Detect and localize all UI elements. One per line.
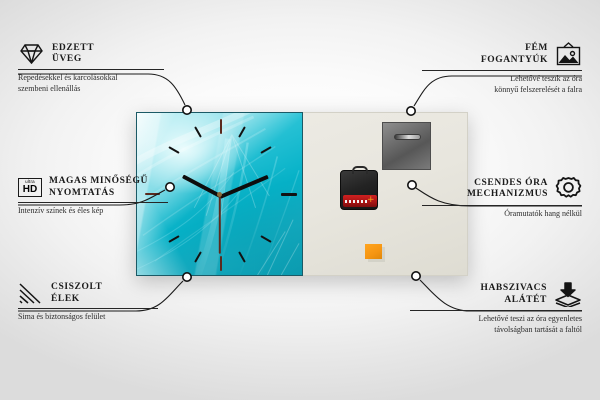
battery: +: [343, 195, 377, 207]
metal-hanger-plate: [382, 122, 431, 170]
callout-title: MAGAS MINŐSÉGŰ NYOMTATÁS: [49, 176, 148, 199]
diamond-icon: [18, 42, 45, 66]
clock-second-hand: [219, 196, 221, 254]
callout-divider: [410, 310, 582, 311]
callout-title: FÉM FOGANTYÚK: [481, 43, 548, 66]
callout-description: Lehetővé teszi az óra egyenletes távolsá…: [410, 314, 582, 335]
callout-metal-handles[interactable]: FÉM FOGANTYÚK Lehetővé teszik az óra kön…: [422, 42, 582, 95]
callout-hd-print[interactable]: ultra HD MAGAS MINŐSÉGŰ NYOMTATÁS Intenz…: [18, 176, 168, 217]
quartz-clock-mechanism: +: [340, 170, 378, 210]
product-photo: +: [136, 112, 468, 276]
callout-silent-mechanism[interactable]: CSENDES ÓRA MECHANIZMUS Óramutatók hang …: [422, 176, 582, 220]
clock-tick: [220, 119, 222, 134]
callout-description: Repedésekkel és karcolásokkal szembeni e…: [18, 73, 164, 94]
mechanism-hook: [352, 166, 368, 174]
callout-title: EDZETT ÜVEG: [52, 43, 94, 66]
polished-edge-icon: [18, 282, 44, 305]
clock-tick: [281, 193, 297, 196]
callout-foam-pad[interactable]: HABSZIVACS ALÁTÉT Lehetővé teszi az óra …: [410, 282, 582, 335]
callout-divider: [18, 202, 168, 203]
callout-divider: [422, 70, 582, 71]
callout-polished-edges[interactable]: CSISZOLT ÉLEK Sima és biztonságos felüle…: [18, 282, 158, 323]
ultra-hd-main-label: HD: [23, 185, 37, 195]
callout-title: CSENDES ÓRA MECHANIZMUS: [467, 178, 548, 201]
foam-spacer-pad: [365, 244, 382, 259]
callout-divider: [18, 69, 164, 70]
clock-hand-cap: [217, 192, 222, 197]
battery-plus-icon: +: [367, 197, 374, 204]
clock-tick: [220, 256, 222, 271]
ultra-hd-icon: ultra HD: [18, 178, 42, 197]
callout-title: CSISZOLT ÉLEK: [51, 282, 102, 305]
foam-pad-arrow-icon: [554, 282, 582, 307]
callout-divider: [422, 205, 582, 206]
callout-description: Óramutatók hang nélkül: [422, 209, 582, 220]
callout-description: Intenzív színek és éles kép: [18, 206, 168, 217]
callout-description: Sima és biztonságos felület: [18, 312, 158, 323]
hanger-slot: [394, 134, 421, 140]
callout-divider: [18, 308, 158, 309]
callout-description: Lehetővé teszik az óra könnyű felszerelé…: [422, 74, 582, 95]
infographic-canvas: +: [0, 0, 600, 400]
battery-label: [345, 200, 367, 203]
callout-tempered-glass[interactable]: EDZETT ÜVEG Repedésekkel és karcolásokka…: [18, 42, 164, 94]
picture-hanger-icon: [555, 42, 582, 67]
callout-title: HABSZIVACS ALÁTÉT: [480, 283, 547, 306]
gear-icon: [555, 176, 582, 202]
